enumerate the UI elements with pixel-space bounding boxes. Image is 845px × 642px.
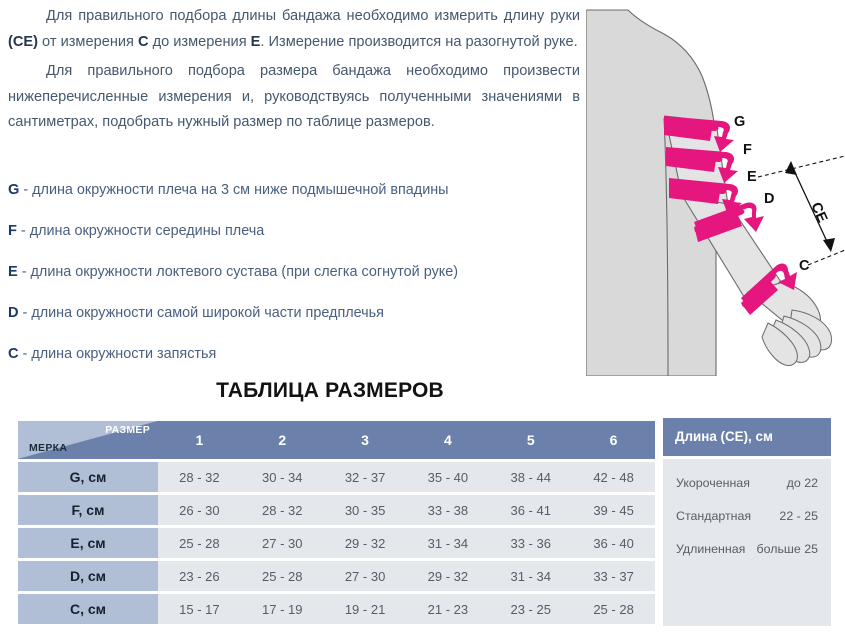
length-value-short: до 22 xyxy=(787,476,818,490)
column-header-3: 3 xyxy=(324,421,407,459)
legend-text-d: - длина окружности самой широкой части п… xyxy=(19,305,384,321)
legend-key-c: C xyxy=(8,346,19,362)
corner-label-measure: МЕРКА xyxy=(29,442,67,454)
legend-text-f: - длина окружности середины плеча xyxy=(17,223,264,239)
length-row-long: Удлиненная больше 25 xyxy=(676,542,818,556)
column-header-5: 5 xyxy=(489,421,572,459)
table-row: E, см 25 - 28 27 - 30 29 - 32 31 - 34 33… xyxy=(18,528,655,558)
arm-measurement-illustration: G F E D C CE xyxy=(586,0,845,376)
illustration-label-d: D xyxy=(764,191,774,207)
cell-e-1: 25 - 28 xyxy=(158,528,241,558)
length-value-standard: 22 - 25 xyxy=(779,509,818,523)
length-name-long: Удлиненная xyxy=(676,542,745,556)
legend-text-g: - длина окружности плеча на 3 см ниже по… xyxy=(19,182,448,198)
table-row: D, см 23 - 26 25 - 28 27 - 30 29 - 32 31… xyxy=(18,561,655,591)
cell-e-6: 36 - 40 xyxy=(572,528,655,558)
intro-text-block: Для правильного подбора длины бандажа не… xyxy=(8,4,580,140)
table-row: G, см 28 - 32 30 - 34 32 - 37 35 - 40 38… xyxy=(18,462,655,492)
cell-c-3: 19 - 21 xyxy=(324,594,407,624)
column-header-6: 6 xyxy=(572,421,655,459)
cell-d-2: 25 - 28 xyxy=(241,561,324,591)
length-table-header: Длина (CE), см xyxy=(663,418,831,456)
cell-c-2: 17 - 19 xyxy=(241,594,324,624)
intro-p1-part-c: от измерения xyxy=(38,34,138,50)
length-table-body: Укороченная до 22 Стандартная 22 - 25 Уд… xyxy=(663,459,831,626)
cell-f-4: 33 - 38 xyxy=(406,495,489,525)
measurement-legend: G - длина окружности плеча на 3 см ниже … xyxy=(8,180,568,385)
row-label-c: C, см xyxy=(18,594,158,624)
row-label-e: E, см xyxy=(18,528,158,558)
table-row: F, см 26 - 30 28 - 32 30 - 35 33 - 38 36… xyxy=(18,495,655,525)
cell-d-4: 29 - 32 xyxy=(406,561,489,591)
fingers-group xyxy=(762,310,832,365)
legend-key-e: E xyxy=(8,264,18,280)
intro-paragraph-1: Для правильного подбора длины бандажа не… xyxy=(8,4,580,55)
cell-g-5: 38 - 44 xyxy=(489,462,572,492)
length-name-standard: Стандартная xyxy=(676,509,751,523)
illustration-label-g: G xyxy=(734,114,745,130)
cell-g-6: 42 - 48 xyxy=(572,462,655,492)
intro-p1-ce: (CE) xyxy=(8,34,38,50)
ce-guide-top xyxy=(758,156,845,177)
cell-e-2: 27 - 30 xyxy=(241,528,324,558)
row-label-d: D, см xyxy=(18,561,158,591)
ce-guide-bottom xyxy=(808,250,845,265)
legend-item-d: D - длина окружности самой широкой части… xyxy=(8,303,568,323)
cell-f-5: 36 - 41 xyxy=(489,495,572,525)
length-name-short: Укороченная xyxy=(676,476,750,490)
row-label-g: G, см xyxy=(18,462,158,492)
cell-c-6: 25 - 28 xyxy=(572,594,655,624)
ce-arrow-head-bottom xyxy=(823,238,835,252)
intro-paragraph-2: Для правильного подбора размера бандажа … xyxy=(8,59,580,136)
intro-p1-e: E xyxy=(251,34,261,50)
cell-g-3: 32 - 37 xyxy=(324,462,407,492)
cell-e-5: 33 - 36 xyxy=(489,528,572,558)
cell-d-5: 31 - 34 xyxy=(489,561,572,591)
intro-p1-part-a: Для правильного подбора длины бандажа не… xyxy=(46,8,580,24)
cell-f-2: 28 - 32 xyxy=(241,495,324,525)
column-header-2: 2 xyxy=(241,421,324,459)
cell-e-4: 31 - 34 xyxy=(406,528,489,558)
legend-item-f: F - длина окружности середины плеча xyxy=(8,221,568,241)
length-row-short: Укороченная до 22 xyxy=(676,476,818,490)
intro-p1-part-g: . Измерение производится на разогнутой р… xyxy=(260,34,577,50)
cell-f-3: 30 - 35 xyxy=(324,495,407,525)
legend-text-c: - длина окружности запястья xyxy=(19,346,217,362)
illustration-label-f: F xyxy=(743,142,752,158)
length-table: Длина (CE), см Укороченная до 22 Стандар… xyxy=(663,418,831,626)
cell-g-4: 35 - 40 xyxy=(406,462,489,492)
table-row: C, см 15 - 17 17 - 19 19 - 21 21 - 23 23… xyxy=(18,594,655,624)
legend-key-f: F xyxy=(8,223,17,239)
legend-item-c: C - длина окружности запястья xyxy=(8,344,568,364)
cell-e-3: 29 - 32 xyxy=(324,528,407,558)
legend-item-e: E - длина окружности локтевого сустава (… xyxy=(8,262,568,282)
legend-text-e: - длина окружности локтевого сустава (пр… xyxy=(18,264,458,280)
cell-f-1: 26 - 30 xyxy=(158,495,241,525)
illustration-label-e: E xyxy=(747,169,757,185)
page-title: ТАБЛИЦА РАЗМЕРОВ xyxy=(0,379,660,403)
cell-d-6: 33 - 37 xyxy=(572,561,655,591)
intro-p1-c: C xyxy=(138,34,149,50)
illustration-label-ce: CE xyxy=(807,200,830,225)
table-corner-cell: РАЗМЕР МЕРКА xyxy=(18,421,158,459)
cell-c-4: 21 - 23 xyxy=(406,594,489,624)
length-row-standard: Стандартная 22 - 25 xyxy=(676,509,818,523)
column-header-1: 1 xyxy=(158,421,241,459)
row-label-f: F, см xyxy=(18,495,158,525)
cell-f-6: 39 - 45 xyxy=(572,495,655,525)
cell-d-1: 23 - 26 xyxy=(158,561,241,591)
illustration-label-c: C xyxy=(799,258,810,274)
cell-g-1: 28 - 32 xyxy=(158,462,241,492)
cell-g-2: 30 - 34 xyxy=(241,462,324,492)
cell-d-3: 27 - 30 xyxy=(324,561,407,591)
cell-c-5: 23 - 25 xyxy=(489,594,572,624)
table-header-row: РАЗМЕР МЕРКА 1 2 3 4 5 6 xyxy=(18,421,655,459)
legend-key-g: G xyxy=(8,182,19,198)
legend-key-d: D xyxy=(8,305,19,321)
length-value-long: больше 25 xyxy=(757,542,818,556)
size-table: РАЗМЕР МЕРКА 1 2 3 4 5 6 G, см 28 - 32 3… xyxy=(18,418,655,627)
intro-p1-part-e: до измерения xyxy=(149,34,251,50)
corner-label-size: РАЗМЕР xyxy=(105,424,150,436)
column-header-4: 4 xyxy=(406,421,489,459)
legend-item-g: G - длина окружности плеча на 3 см ниже … xyxy=(8,180,568,200)
cell-c-1: 15 - 17 xyxy=(158,594,241,624)
